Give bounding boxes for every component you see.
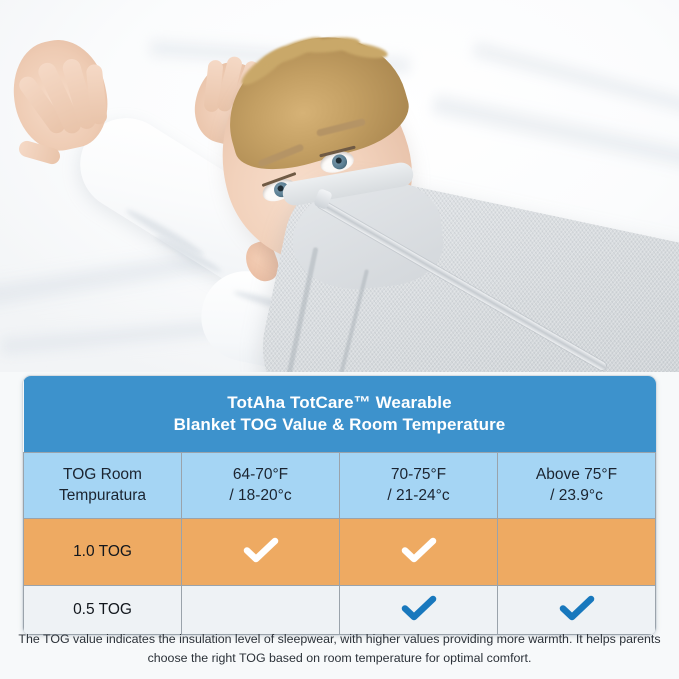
column-header-line-1: 70-75°F	[391, 466, 446, 483]
cell-1-0-tog-70-75f	[340, 519, 498, 586]
table-row: 0.5 TOG	[24, 586, 656, 635]
checkmark-icon	[401, 537, 437, 563]
tog-table: TotAha TotCare™ Wearable Blanket TOG Val…	[22, 375, 657, 636]
cell-1-0-tog-above-75f	[498, 519, 656, 586]
table-row: 1.0 TOG	[24, 519, 656, 586]
column-header-line-2: / 18-20°c	[229, 487, 291, 504]
column-header-64-70f: 64-70°F / 18-20°c	[182, 453, 340, 519]
checkmark-icon	[401, 595, 437, 621]
table-title-cell: TotAha TotCare™ Wearable Blanket TOG Val…	[24, 376, 656, 453]
table-title-row: TotAha TotCare™ Wearable Blanket TOG Val…	[24, 376, 656, 453]
table-title-line-1: TotAha TotCare™ Wearable	[227, 393, 451, 412]
checkmark-icon	[243, 537, 279, 563]
cell-0-5-tog-above-75f	[498, 586, 656, 635]
cell-1-0-tog-64-70f	[182, 519, 340, 586]
row-label-1-0-tog: 1.0 TOG	[24, 519, 182, 586]
cell-0-5-tog-64-70f	[182, 586, 340, 635]
checkmark-icon	[559, 595, 595, 621]
column-header-line-1: Above 75°F	[536, 466, 617, 483]
tog-explanation-note: The TOG value indicates the insulation l…	[18, 630, 661, 667]
row-label-0-5-tog: 0.5 TOG	[24, 586, 182, 635]
column-header-above-75f: Above 75°F / 23.9°c	[498, 453, 656, 519]
column-header-line-2: / 21-24°c	[387, 487, 449, 504]
column-header-line-1: TOG Room	[63, 466, 142, 483]
column-header-70-75f: 70-75°F / 21-24°c	[340, 453, 498, 519]
cell-0-5-tog-70-75f	[340, 586, 498, 635]
product-photo	[0, 0, 679, 372]
column-header-line-2: / 23.9°c	[550, 487, 603, 504]
table-title-line-2: Blanket TOG Value & Room Temperature	[174, 415, 506, 434]
column-header-line-2: Tempuratura	[59, 487, 146, 504]
column-header-tog-room: TOG Room Tempuratura	[24, 453, 182, 519]
table-column-header-row: TOG Room Tempuratura 64-70°F / 18-20°c 7…	[24, 453, 656, 519]
column-header-line-1: 64-70°F	[233, 466, 288, 483]
